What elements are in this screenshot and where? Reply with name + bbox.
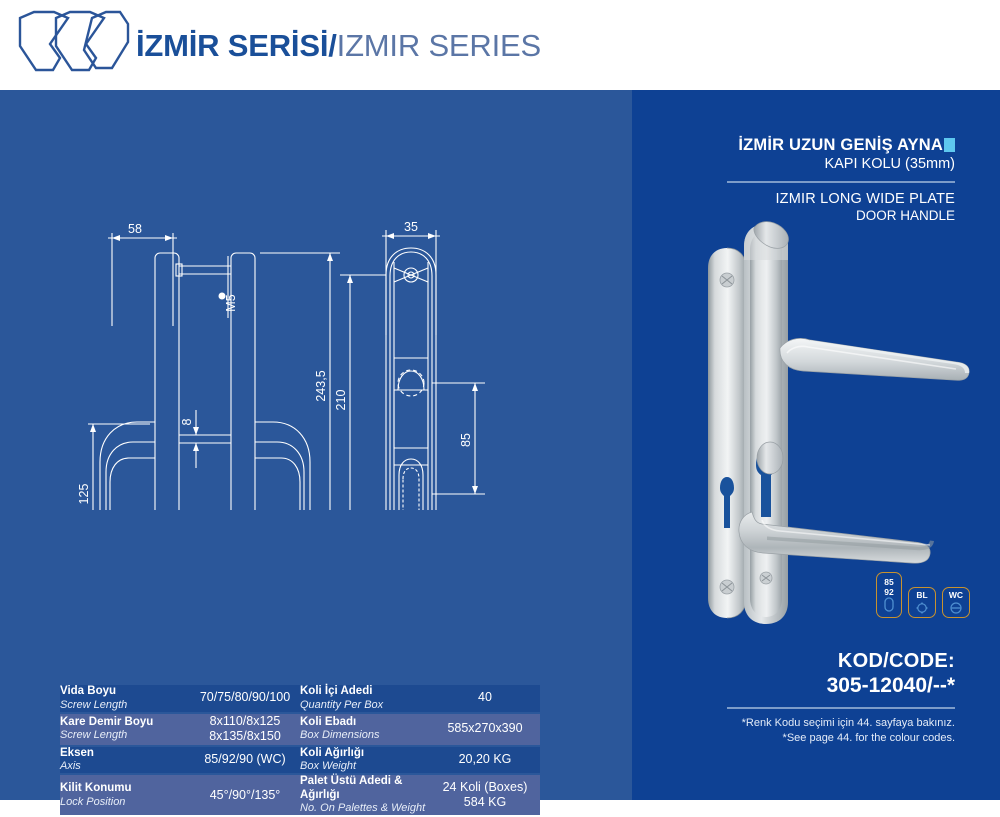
product-title-en: IZMIR LONG WIDE PLATE bbox=[665, 191, 955, 207]
table-row: Kare Demir Boyu Screw Length 8x110/8x125… bbox=[60, 714, 540, 745]
spec-label-tr: Eksen bbox=[60, 747, 190, 761]
dim-label-thread: M5 bbox=[224, 294, 238, 311]
colour-note-tr: *Renk Kodu seçimi için 44. sayfaya bakın… bbox=[665, 716, 955, 732]
code-label: KOD/CODE: bbox=[665, 650, 955, 673]
spec-label-en: No. On Palettes & Weight bbox=[300, 802, 430, 815]
bl-badge: BL bbox=[908, 587, 936, 618]
wc-badge: WC bbox=[942, 587, 970, 618]
spec-label-cell: Kare Demir Boyu Screw Length bbox=[60, 714, 190, 745]
left-panel: 58 M5 8 125 243,5 35 210 85 Vida Boyu Sc… bbox=[0, 90, 632, 800]
spec-label-cell: Koli Ağırlığı Box Weight bbox=[300, 747, 430, 774]
product-title-block: İZMİR UZUN GENİŞ AYNA KAPI KOLU (35mm) I… bbox=[665, 136, 955, 223]
spec-label-en: Screw Length bbox=[60, 699, 190, 712]
blank-knob-icon bbox=[915, 601, 929, 615]
spec-value: 70/75/80/90/100 bbox=[190, 685, 300, 712]
spec-label-tr: Koli İçi Adedi bbox=[300, 685, 430, 699]
keyhole-oval-icon bbox=[884, 597, 894, 612]
spec-value: 20,20 KG bbox=[430, 747, 540, 774]
spec-label-en: Quantity Per Box bbox=[300, 699, 430, 712]
dim-label-handle-length: 125 bbox=[77, 484, 91, 505]
spec-label-tr: Koli Ebadı bbox=[300, 716, 430, 730]
spec-value-line2: 584 KG bbox=[464, 795, 506, 809]
dim-label-plate-width: 35 bbox=[404, 220, 418, 234]
spec-label-cell: Eksen Axis bbox=[60, 747, 190, 774]
back-plate bbox=[708, 248, 746, 618]
dim-label-width: 58 bbox=[128, 222, 142, 236]
dim-label-plate-total: 243,5 bbox=[314, 370, 328, 401]
spec-label-tr: Kilit Konumu bbox=[60, 782, 190, 796]
spec-value-line1: 8x110/8x125 bbox=[210, 714, 281, 728]
front-plate bbox=[744, 224, 788, 624]
feature-badges: 85 92 BL WC bbox=[876, 572, 970, 618]
accent-square-icon bbox=[944, 138, 955, 152]
spec-value: 585x270x390 bbox=[430, 714, 540, 745]
table-row: Vida Boyu Screw Length 70/75/80/90/100 K… bbox=[60, 685, 540, 712]
spec-label-cell: Kilit Konumu Lock Position bbox=[60, 775, 190, 815]
page-title-tr: İZMİR SERİSİ/ bbox=[136, 28, 337, 63]
code-value: 305-12040/--* bbox=[665, 674, 955, 698]
page-header: İZMİR SERİSİ/IZMIR SERIES bbox=[0, 0, 1000, 90]
w-hexagon-logo-icon bbox=[12, 8, 130, 82]
spec-value: 45°/90°/135° bbox=[190, 775, 300, 815]
spec-label-cell: Koli Ebadı Box Dimensions bbox=[300, 714, 430, 745]
wc-badge-label: WC bbox=[949, 591, 963, 601]
spec-label-tr: Palet Üstü Adedi & Ağırlığı bbox=[300, 775, 430, 802]
axis-badge-line2: 92 bbox=[884, 588, 893, 598]
page-title-en: IZMIR SERIES bbox=[337, 28, 541, 63]
specification-table: Vida Boyu Screw Length 70/75/80/90/100 K… bbox=[60, 683, 540, 817]
spec-label-en: Lock Position bbox=[60, 796, 190, 809]
technical-drawing: 58 M5 8 125 243,5 35 210 85 bbox=[0, 90, 632, 510]
product-code-block: KOD/CODE: 305-12040/--* *Renk Kodu seçim… bbox=[665, 650, 955, 747]
spec-value: 8x110/8x125 8x135/8x150 bbox=[190, 714, 300, 745]
lever-hub bbox=[757, 442, 783, 474]
table-row: Kilit Konumu Lock Position 45°/90°/135° … bbox=[60, 775, 540, 815]
title-divider bbox=[727, 181, 955, 183]
spec-value: 85/92/90 (WC) bbox=[190, 747, 300, 774]
spec-label-tr: Koli Ağırlığı bbox=[300, 747, 430, 761]
spec-label-tr: Vida Boyu bbox=[60, 685, 190, 699]
spec-label-cell: Vida Boyu Screw Length bbox=[60, 685, 190, 712]
upper-lever bbox=[780, 338, 969, 380]
wc-thumbturn-icon bbox=[949, 601, 963, 615]
dim-label-hole-spacing: 210 bbox=[334, 390, 348, 411]
colour-note-en: *See page 44. for the colour codes. bbox=[665, 731, 955, 747]
spec-value-line2: 8x135/8x150 bbox=[209, 729, 281, 743]
spec-label-tr: Kare Demir Boyu bbox=[60, 716, 190, 730]
spec-label-cell: Koli İçi Adedi Quantity Per Box bbox=[300, 685, 430, 712]
dim-label-spindle: 8 bbox=[180, 418, 194, 425]
right-panel: İZMİR UZUN GENİŞ AYNA KAPI KOLU (35mm) I… bbox=[632, 90, 1000, 800]
product-subtitle-tr: KAPI KOLU (35mm) bbox=[665, 156, 955, 172]
spec-value-line1: 24 Koli (Boxes) bbox=[443, 780, 528, 794]
spec-value: 40 bbox=[430, 685, 540, 712]
spec-label-en: Box Weight bbox=[300, 760, 430, 773]
spec-value: 24 Koli (Boxes) 584 KG bbox=[430, 775, 540, 815]
table-row: Eksen Axis 85/92/90 (WC) Koli Ağırlığı B… bbox=[60, 747, 540, 774]
product-title-tr: İZMİR UZUN GENİŞ AYNA bbox=[738, 136, 943, 155]
spec-label-en: Axis bbox=[60, 760, 190, 773]
bl-badge-label: BL bbox=[916, 591, 927, 601]
axis-badge: 85 92 bbox=[876, 572, 902, 618]
page-title: İZMİR SERİSİ/IZMIR SERIES bbox=[136, 28, 541, 64]
code-divider bbox=[727, 707, 955, 709]
spec-label-en: Screw Length bbox=[60, 729, 190, 742]
spec-label-cell: Palet Üstü Adedi & Ağırlığı No. On Palet… bbox=[300, 775, 430, 815]
spec-label-en: Box Dimensions bbox=[300, 729, 430, 742]
dim-label-axis-distance: 85 bbox=[459, 433, 473, 447]
